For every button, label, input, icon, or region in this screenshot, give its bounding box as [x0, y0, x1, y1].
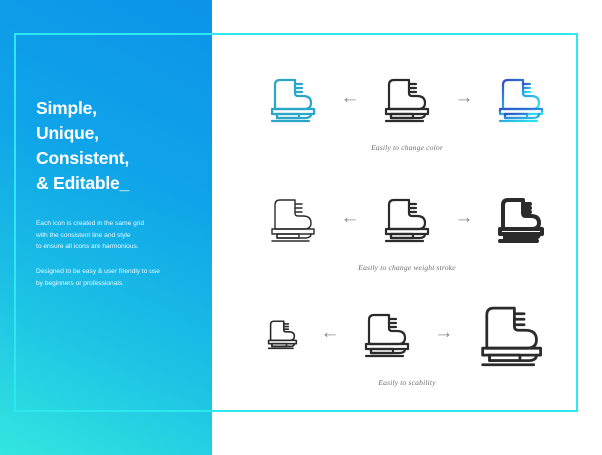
paragraph-2-line-1: Designed to be easy & user friendly to u…	[36, 266, 196, 277]
arrow-right-icon: →	[449, 208, 479, 227]
page-title: Simple, Unique, Consistent, & Editable_	[36, 96, 196, 195]
ice-skate-icon-bold	[493, 189, 549, 245]
ice-skate-icon-teal	[265, 69, 321, 125]
ice-skate-icon-medium	[379, 189, 435, 245]
headline-line-4: & Editable_	[36, 171, 196, 196]
headline-line-2: Unique,	[36, 121, 196, 146]
demo-row-color: ← → Easily to change color	[212, 53, 602, 165]
paragraph-2-line-2: by beginners or professionals.	[36, 278, 196, 289]
ice-skate-icon-normal	[359, 304, 415, 360]
arrow-left-icon: ←	[315, 323, 345, 342]
headline-line-1: Simple,	[36, 96, 196, 121]
poster-canvas: Simple, Unique, Consistent, & Editable_ …	[0, 0, 602, 455]
paragraph-1-line-2: with the consistent line and style	[36, 230, 196, 241]
ice-skate-icon-small	[264, 314, 301, 351]
row-weight-icons: ← →	[212, 173, 602, 261]
icon-showcase: ← → Easily to change color ← → Easily to…	[212, 33, 602, 412]
ice-skate-icon-thin	[265, 189, 321, 245]
headline-line-3: Consistent,	[36, 146, 196, 171]
ice-skate-icon-dark	[379, 69, 435, 125]
row-color-icons: ← →	[212, 53, 602, 141]
arrow-right-icon: →	[429, 323, 459, 342]
ice-skate-icon-large	[473, 293, 550, 370]
caption-change-color: Easily to change color	[212, 143, 602, 152]
ice-skate-icon-gradient	[493, 69, 549, 125]
panel-text-block: Simple, Unique, Consistent, & Editable_ …	[36, 96, 196, 289]
caption-scability: Easily to scability	[212, 378, 602, 387]
paragraph-1-line-3: to ensure all icons are harmonious.	[36, 241, 196, 252]
demo-row-weight: ← → Easily to change weight stroke	[212, 173, 602, 285]
caption-change-weight-stroke: Easily to change weight stroke	[212, 263, 602, 272]
demo-row-scale: ← → Easily to scability	[212, 288, 602, 404]
arrow-left-icon: ←	[335, 88, 365, 107]
description-paragraph-1: Each icon is created in the same grid wi…	[36, 218, 196, 252]
arrow-left-icon: ←	[335, 208, 365, 227]
paragraph-1-line-1: Each icon is created in the same grid	[36, 218, 196, 229]
row-scale-icons: ← →	[212, 288, 602, 376]
arrow-right-icon: →	[449, 88, 479, 107]
description-paragraph-2: Designed to be easy & user friendly to u…	[36, 266, 196, 289]
